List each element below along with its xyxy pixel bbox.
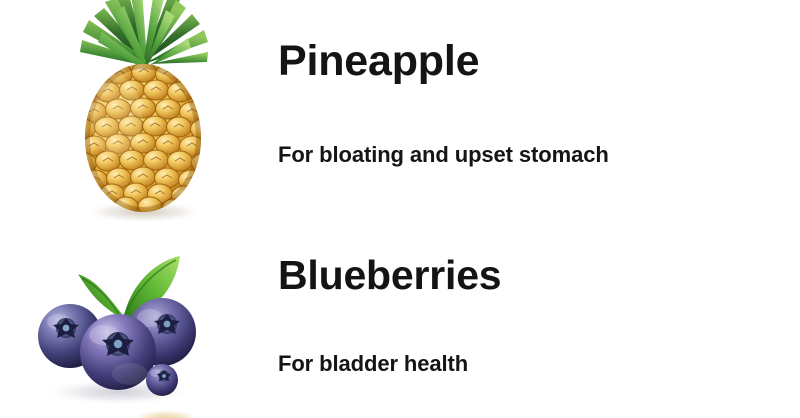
- item-title: Blueberries: [278, 255, 501, 296]
- item-benefit: For bloating and upset stomach: [278, 144, 609, 166]
- blueberries-text-cell: Blueberries For bladder health: [278, 232, 778, 418]
- fruit-benefits-list: Pineapple For bloating and upset stomach: [0, 0, 800, 418]
- blueberries-image-cell: [0, 232, 260, 418]
- blueberries-image: [26, 240, 206, 410]
- item-title: Pineapple: [278, 40, 479, 83]
- pineapple-text-cell: Pineapple For bloating and upset stomach: [278, 0, 778, 232]
- item-benefit: For bladder health: [278, 353, 468, 375]
- pineapple-image: [58, 0, 228, 222]
- list-item[interactable]: Blueberries For bladder health: [0, 232, 800, 418]
- list-item[interactable]: Pineapple For bloating and upset stomach: [0, 0, 800, 232]
- pineapple-image-cell: [0, 0, 260, 232]
- next-item-peek: [138, 411, 194, 418]
